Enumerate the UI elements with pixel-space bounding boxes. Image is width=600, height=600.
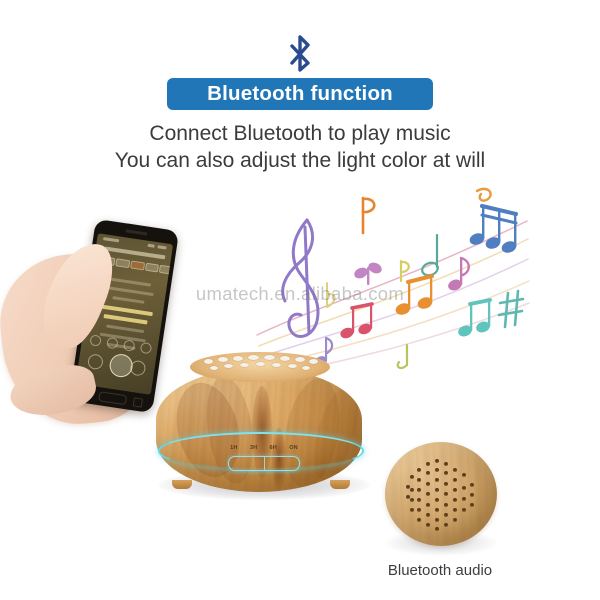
note-green-quarter (420, 235, 439, 277)
speaker-caption: Bluetooth audio (330, 562, 550, 579)
diffuser-control-panel (228, 456, 300, 471)
timer-label-on: ON (289, 445, 298, 451)
mist-button (229, 457, 265, 470)
product-marketing-image: Bluetooth function Connect Bluetooth to … (0, 0, 600, 600)
next-track-button (129, 360, 146, 377)
note-blue-beamed (468, 205, 518, 255)
timer-label-1h: 1H (230, 445, 237, 451)
subtitle-block: Connect Bluetooth to play music You can … (0, 120, 600, 174)
floating-music-notes (255, 185, 530, 370)
note-purple-pair (353, 261, 384, 285)
note-orange-p (363, 198, 374, 233)
note-orange-spiral (477, 189, 491, 201)
wood-grain-aroma-diffuser: 1H 3H 6H ON (150, 352, 372, 512)
flat-sign-yellow (327, 283, 335, 307)
timer-label-6h: 6H (270, 445, 277, 451)
title-banner: Bluetooth function (167, 78, 433, 110)
diffuser-control-labels: 1H 3H 6H ON (224, 445, 304, 451)
title-banner-label: Bluetooth function (207, 84, 393, 105)
bluetooth-speaker (378, 438, 504, 564)
diffuser-lid (190, 352, 330, 382)
phone-earpiece (125, 229, 147, 235)
diffuser-foot-left (172, 480, 192, 489)
previous-track-button (87, 353, 104, 370)
speaker-body (385, 442, 497, 546)
phone-home-key (98, 391, 127, 405)
phone-recents-key (133, 397, 143, 407)
subtitle-line-1: Connect Bluetooth to play music (0, 120, 600, 147)
speaker-grille (404, 459, 478, 529)
sharp-sign (499, 291, 523, 327)
treble-clef (283, 220, 318, 336)
light-button (265, 457, 300, 470)
note-red-beamed (339, 303, 373, 340)
timer-label-3h: 3H (250, 445, 257, 451)
diffuser-foot-right (330, 480, 350, 489)
note-yellow-small (401, 261, 409, 281)
subtitle-line-2: You can also adjust the light color at w… (0, 147, 600, 174)
bluetooth-rune-icon (279, 33, 321, 79)
note-green-bottom (398, 345, 407, 368)
diffuser-body (156, 368, 362, 492)
